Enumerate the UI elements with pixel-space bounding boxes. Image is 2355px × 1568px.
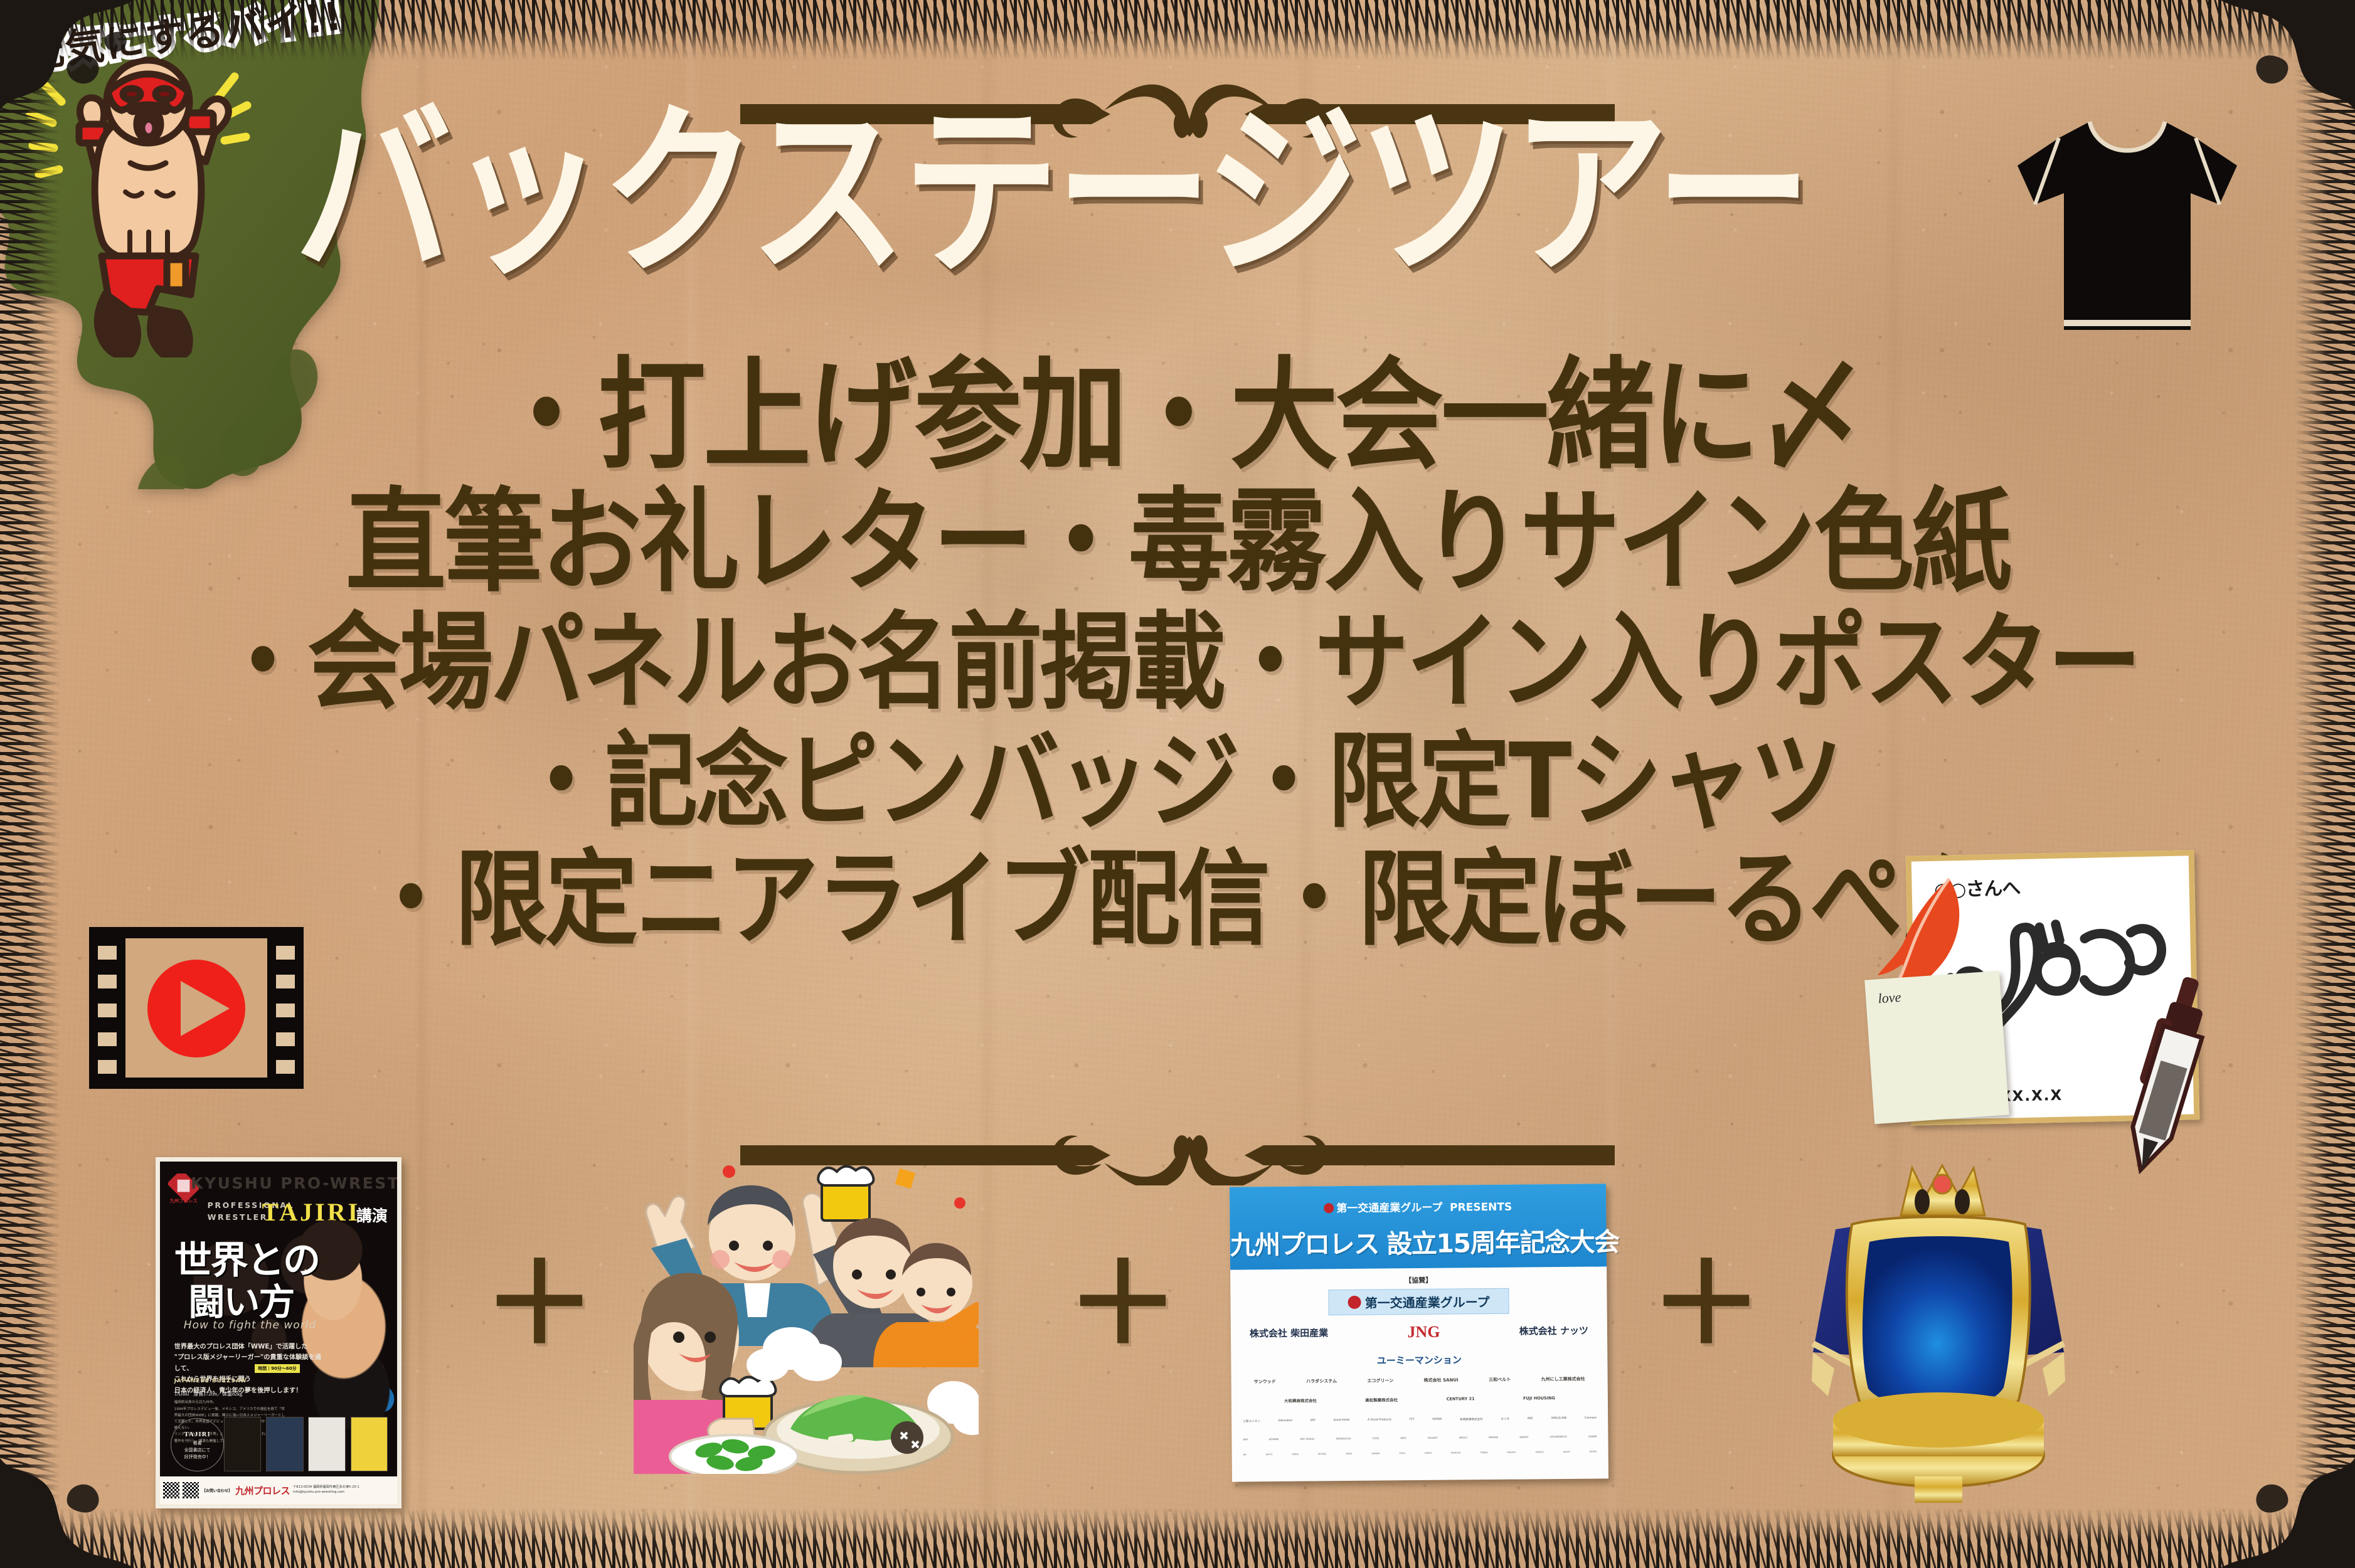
- tajiri-footer-org: 九州プロレス: [235, 1484, 290, 1497]
- benefit-line: ・打上げ参加・大会一緒に〆: [0, 344, 2355, 489]
- poster-root: 元気にするバイ!!: [0, 0, 2355, 1568]
- memo-word: love: [1878, 989, 1901, 1007]
- panel-tier4-row: サンウッドハラダシステム エコグリーン株式会社 SANUI 三和ベルト九州にし工…: [1254, 1375, 1585, 1385]
- plus-separator: ＋: [483, 1248, 596, 1361]
- panel-tier7-row: AIMKOSHIN ARC-MobileYAMAGUCHI TOYOEIKO S…: [1243, 1434, 1597, 1441]
- tajiri-footer-address: 〒813-0034 福岡県福岡市東区多の津5-20-1info@kyushu-p…: [293, 1485, 359, 1495]
- tajiri-nickname: JAPANESE BUZZSAW: [174, 1378, 247, 1384]
- benefit-line: 直筆お礼レター・毒霧入りサイン色紙: [0, 473, 2355, 611]
- celebration-party-illustration: [634, 1160, 979, 1474]
- poster-title: バックステージツアー: [295, 100, 1809, 285]
- tajiri-poster-body: 九州プロレス KYUSHU PRO-WRESTLING PROFESSIONAL…: [156, 1157, 401, 1508]
- panel-presents-line: 第一交通産業グループ PRESENTS: [1230, 1197, 1606, 1216]
- panel-sponsor-label: 【協賛】: [1230, 1274, 1607, 1287]
- plus-separator: ＋: [1066, 1248, 1179, 1361]
- film-play-icon: [87, 902, 306, 1109]
- qr-code-icon: [183, 1482, 199, 1498]
- tajiri-title-line2: 闘い方: [188, 1273, 294, 1325]
- sponsor-banner-panel: 第一交通産業グループ PRESENTS 九州プロレス 設立15周年記念大会 【協…: [1230, 1184, 1608, 1481]
- crest-badge-icon: [1775, 1154, 2102, 1505]
- memo-note: love: [1864, 971, 2009, 1124]
- poster-title-row: バックステージツアー: [295, 116, 2070, 270]
- tajiri-lecture-poster: 九州プロレス KYUSHU PRO-WRESTLING PROFESSIONAL…: [156, 1157, 401, 1508]
- tajiri-profile-name: TAJIRI 身長172cm／体重82kg: [174, 1385, 242, 1399]
- daiichi-logo-icon: [1324, 1203, 1334, 1213]
- daiichi-logo-icon: [1348, 1296, 1361, 1309]
- qr-code-icon: [163, 1482, 179, 1498]
- panel-event-title: 九州プロレス 設立15周年記念大会: [1230, 1221, 1607, 1261]
- panel-tier1-sponsor: 第一交通産業グループ: [1328, 1288, 1509, 1315]
- panel-tier2-row: 株式会社 柴田産業 JNG 株式会社 ナッツ: [1250, 1321, 1588, 1343]
- tajiri-book-covers: [224, 1417, 388, 1471]
- tajiri-duration-badge: 時間｜90分〜60分: [255, 1364, 299, 1373]
- tajiri-contact-label: 【お問い合わせ】: [202, 1488, 232, 1493]
- tajiri-books-circle: TAJIRI 著書 全国書店にて 好評発売中！: [171, 1418, 224, 1471]
- panel-tier5-row: 大和興商株式会社高松製業株式会社 CENTURY 21FUJI HOUSING: [1284, 1395, 1555, 1404]
- svg-text:九州プロレス: 九州プロレス: [169, 1197, 198, 1203]
- tajiri-org: KYUSHU PRO-WRESTLING: [191, 1174, 390, 1192]
- panel-tier3-row: ユーミーマンション: [1231, 1352, 1607, 1368]
- benefit-line: ・会場パネルお名前掲載・サイン入りポスター: [0, 596, 2355, 730]
- panel-tier6-row: 三和ユニオンSakurakai SKYGood Hotel A Good Pro…: [1243, 1417, 1597, 1424]
- benefit-line: ・記念ピンバッジ・限定Tシャツ: [0, 716, 2355, 848]
- plus-separator: ＋: [1650, 1248, 1763, 1361]
- tajiri-subtitle: How to fight the world: [184, 1319, 316, 1332]
- tajiri-poster-footer: 【お問い合わせ】 九州プロレス 〒813-0034 福岡県福岡市東区多の津5-2…: [160, 1476, 397, 1504]
- tshirt-icon: [1999, 99, 2256, 353]
- panel-tier8-row: JINSAITO ONDAMIYAKE KOBASANWA FUKUIWATA …: [1243, 1451, 1597, 1456]
